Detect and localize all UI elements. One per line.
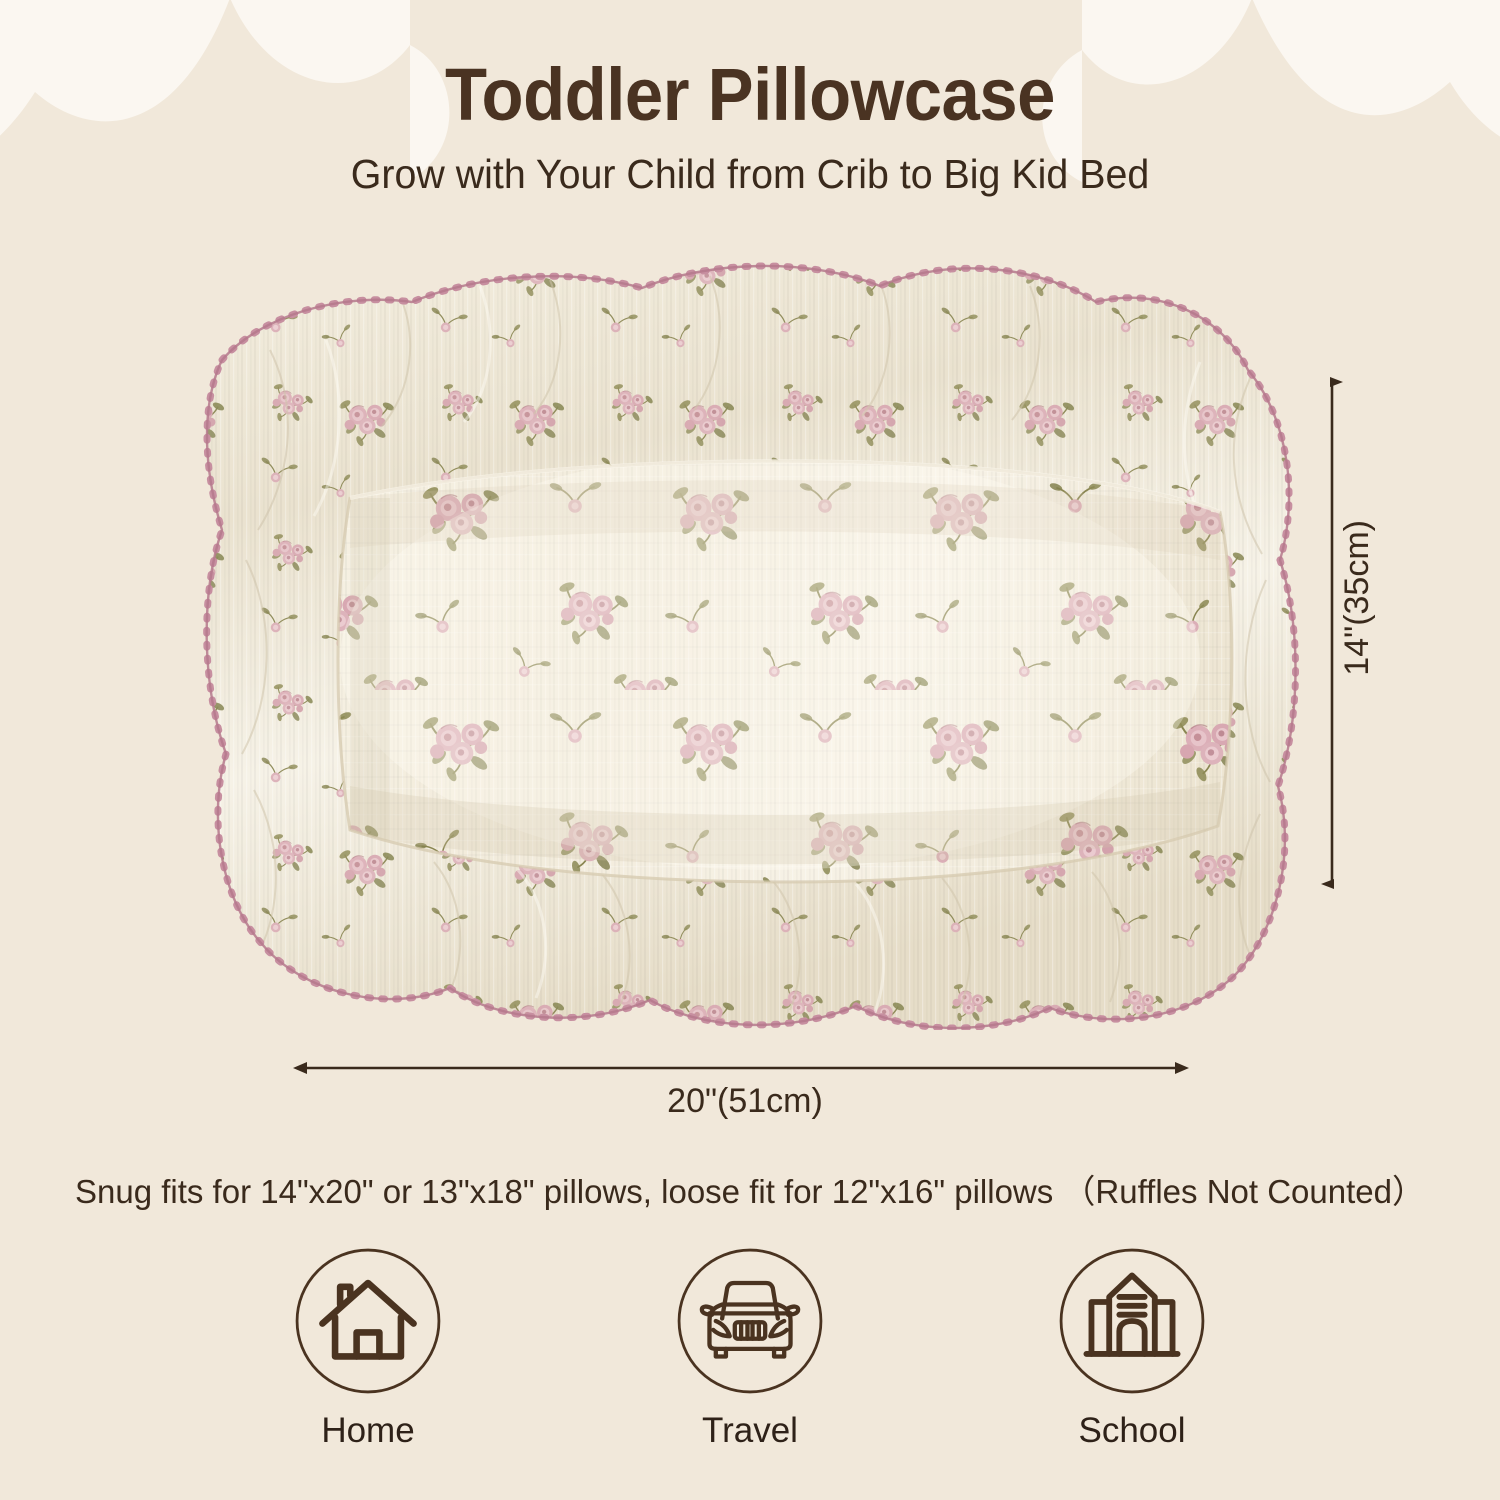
school-icon	[1056, 1245, 1208, 1397]
header-block: Toddler Pillowcase Grow with Your Child …	[0, 0, 1500, 195]
fit-note: Snug fits for 14"x20" or 13"x18" pillows…	[0, 1165, 1500, 1213]
infographic-canvas: Toddler Pillowcase Grow with Your Child …	[0, 0, 1500, 1500]
page-subtitle: Grow with Your Child from Crib to Big Ki…	[30, 132, 1470, 195]
feature-item-home[interactable]: Home	[268, 1245, 468, 1451]
page-title: Toddler Pillowcase	[53, 0, 1448, 132]
car-icon	[674, 1245, 826, 1397]
house-icon	[292, 1245, 444, 1397]
feature-item-school[interactable]: School	[1032, 1245, 1232, 1451]
product-image-pillowcase	[150, 230, 1330, 1030]
feature-label-school: School	[1078, 1411, 1185, 1451]
feature-item-travel[interactable]: Travel	[650, 1245, 850, 1451]
height-dimension-label: 14"(35cm)	[1338, 520, 1377, 676]
feature-label-home: Home	[321, 1411, 414, 1451]
feature-list: Home Travel	[0, 1245, 1500, 1451]
width-dimension-label: 20"(51cm)	[0, 1082, 1500, 1121]
width-dimension-text: 20"(51cm)	[667, 1082, 823, 1121]
feature-label-travel: Travel	[702, 1411, 798, 1451]
